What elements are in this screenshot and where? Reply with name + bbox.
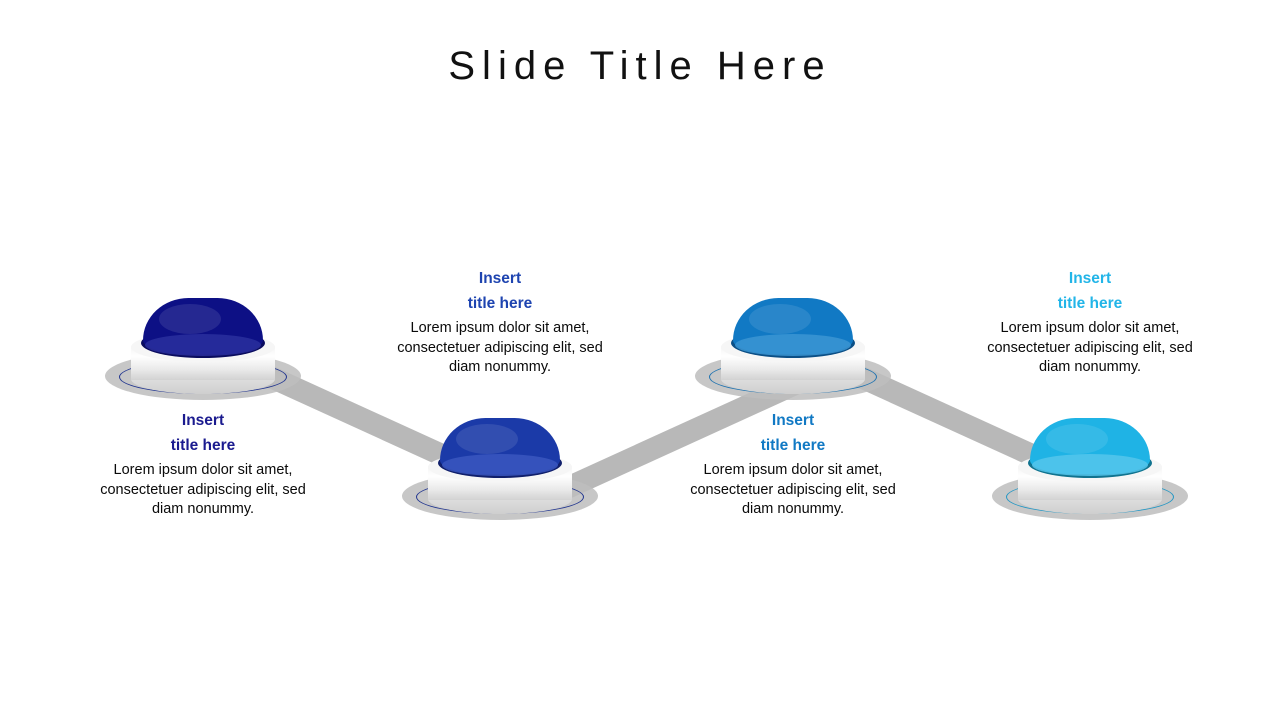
text-block-2[interactable]: Insert title here Lorem ipsum dolor sit … bbox=[385, 266, 615, 378]
text-block-1-body: Lorem ipsum dolor sit amet, consectetuer… bbox=[88, 461, 318, 520]
text-block-3-title-line1: Insert bbox=[678, 408, 908, 433]
text-block-4-body: Lorem ipsum dolor sit amet, consectetuer… bbox=[975, 319, 1205, 378]
text-block-4[interactable]: Insert title here Lorem ipsum dolor sit … bbox=[975, 266, 1205, 378]
text-block-1[interactable]: Insert title here Lorem ipsum dolor sit … bbox=[88, 408, 318, 520]
text-block-4-title-line1: Insert bbox=[975, 266, 1205, 291]
text-block-4-title-line2: title here bbox=[975, 291, 1205, 316]
node-3-dome-sheen bbox=[749, 304, 811, 334]
text-block-3-title-line2: title here bbox=[678, 433, 908, 458]
node-2-dome-sheen bbox=[456, 424, 518, 454]
node-4-dome-sheen bbox=[1046, 424, 1108, 454]
text-block-3[interactable]: Insert title here Lorem ipsum dolor sit … bbox=[678, 408, 908, 520]
node-1-dome-lip bbox=[145, 334, 261, 356]
text-block-3-body: Lorem ipsum dolor sit amet, consectetuer… bbox=[678, 461, 908, 520]
node-2-dome-lip bbox=[442, 454, 558, 476]
node-1-dome-sheen bbox=[159, 304, 221, 334]
text-block-2-title-line1: Insert bbox=[385, 266, 615, 291]
text-block-1-title-line1: Insert bbox=[88, 408, 318, 433]
text-block-2-title-line2: title here bbox=[385, 291, 615, 316]
text-block-2-body: Lorem ipsum dolor sit amet, consectetuer… bbox=[385, 319, 615, 378]
text-block-1-title-line2: title here bbox=[88, 433, 318, 458]
node-3-dome-lip bbox=[735, 334, 851, 356]
slide-canvas: Slide Title Here bbox=[0, 0, 1280, 720]
page-title[interactable]: Slide Title Here bbox=[0, 42, 1280, 90]
node-4-dome-lip bbox=[1032, 454, 1148, 476]
